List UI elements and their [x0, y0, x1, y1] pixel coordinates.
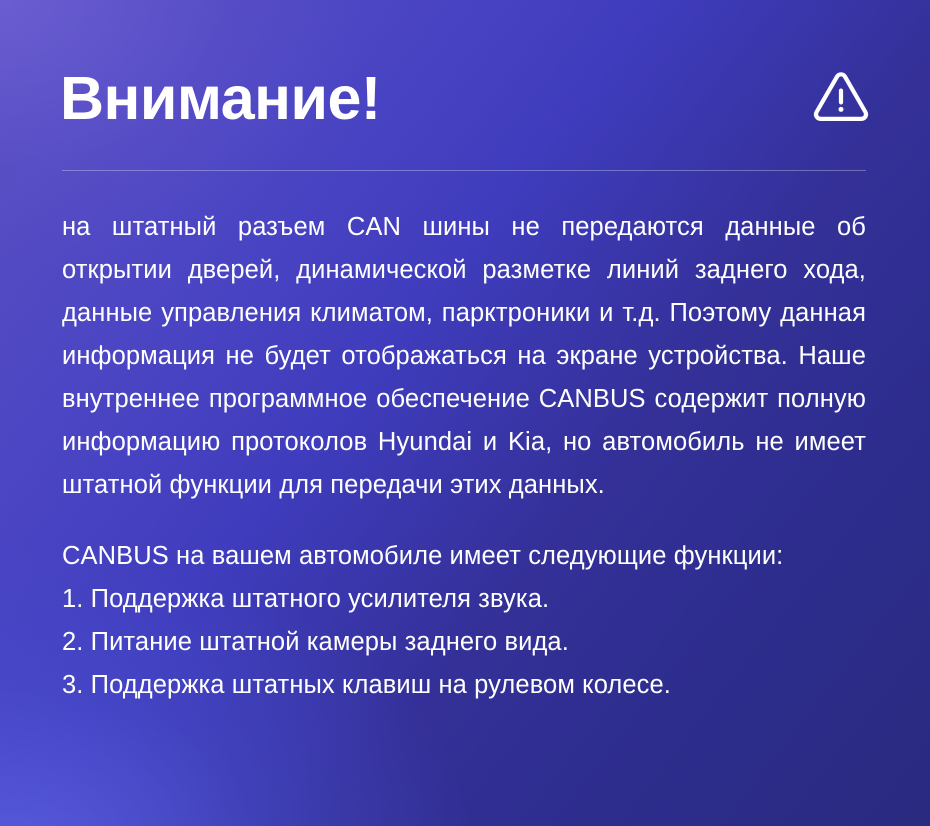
page-title: Внимание! — [60, 66, 381, 130]
warning-poster: Внимание! на штатный разъем CAN шины не … — [0, 0, 930, 826]
poster-content: на штатный разъем CAN шины не передаются… — [62, 206, 866, 707]
poster-header: Внимание! — [60, 46, 866, 150]
functions-list: 1. Поддержка штатного усилителя звука. 2… — [62, 578, 866, 707]
functions-lead-line: CANBUS на вашем автомобиле имеет следующ… — [62, 535, 866, 578]
list-item: 3. Поддержка штатных клавиш на рулевом к… — [62, 664, 866, 707]
warning-triangle-icon — [812, 69, 870, 127]
paragraph-spacer — [62, 507, 866, 535]
warning-icon-wrap — [812, 69, 866, 127]
list-item: 1. Поддержка штатного усилителя звука. — [62, 578, 866, 621]
paragraph-canbus-limitations-text: на штатный разъем CAN шины не передаются… — [62, 213, 866, 499]
header-divider — [62, 170, 866, 171]
paragraph-canbus-limitations: на штатный разъем CAN шины не передаются… — [62, 206, 866, 507]
list-item: 2. Питание штатной камеры заднего вида. — [62, 621, 866, 664]
